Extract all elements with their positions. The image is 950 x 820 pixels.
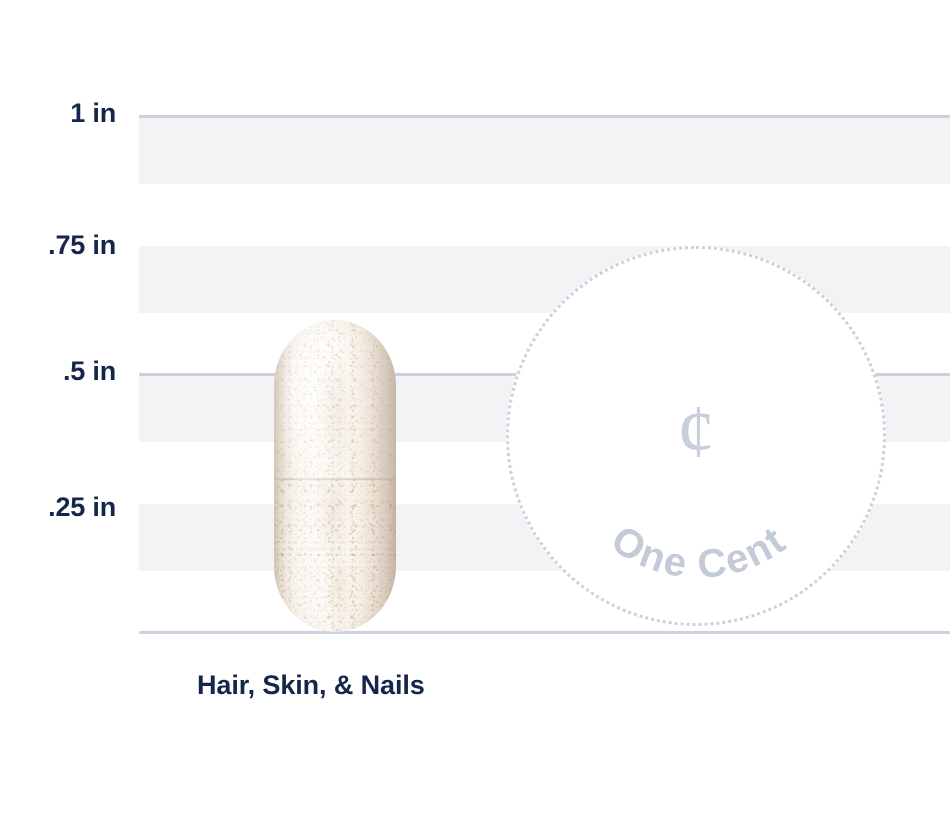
y-tick-75in: .75 in — [48, 230, 116, 261]
grid-band-1in — [139, 117, 950, 184]
size-comparison-chart: 1 in .75 in .5 in .25 in ¢ One Cent Hair… — [0, 0, 950, 820]
capsule-body — [274, 320, 396, 632]
penny-curved-label-text: One Cent — [604, 517, 794, 587]
y-tick-5in: .5 in — [63, 356, 116, 387]
product-caption: Hair, Skin, & Nails — [197, 670, 425, 701]
penny-outline: ¢ One Cent — [506, 246, 886, 626]
gridline-baseline — [139, 631, 950, 634]
gridline-1in — [139, 115, 950, 118]
y-tick-25in: .25 in — [48, 492, 116, 523]
capsule-image — [274, 320, 396, 632]
capsule-fine-speckle-texture — [274, 320, 396, 632]
penny-curved-label: One Cent — [509, 249, 889, 629]
y-axis-labels: 1 in .75 in .5 in .25 in — [0, 0, 116, 820]
y-tick-1in: 1 in — [70, 98, 116, 129]
